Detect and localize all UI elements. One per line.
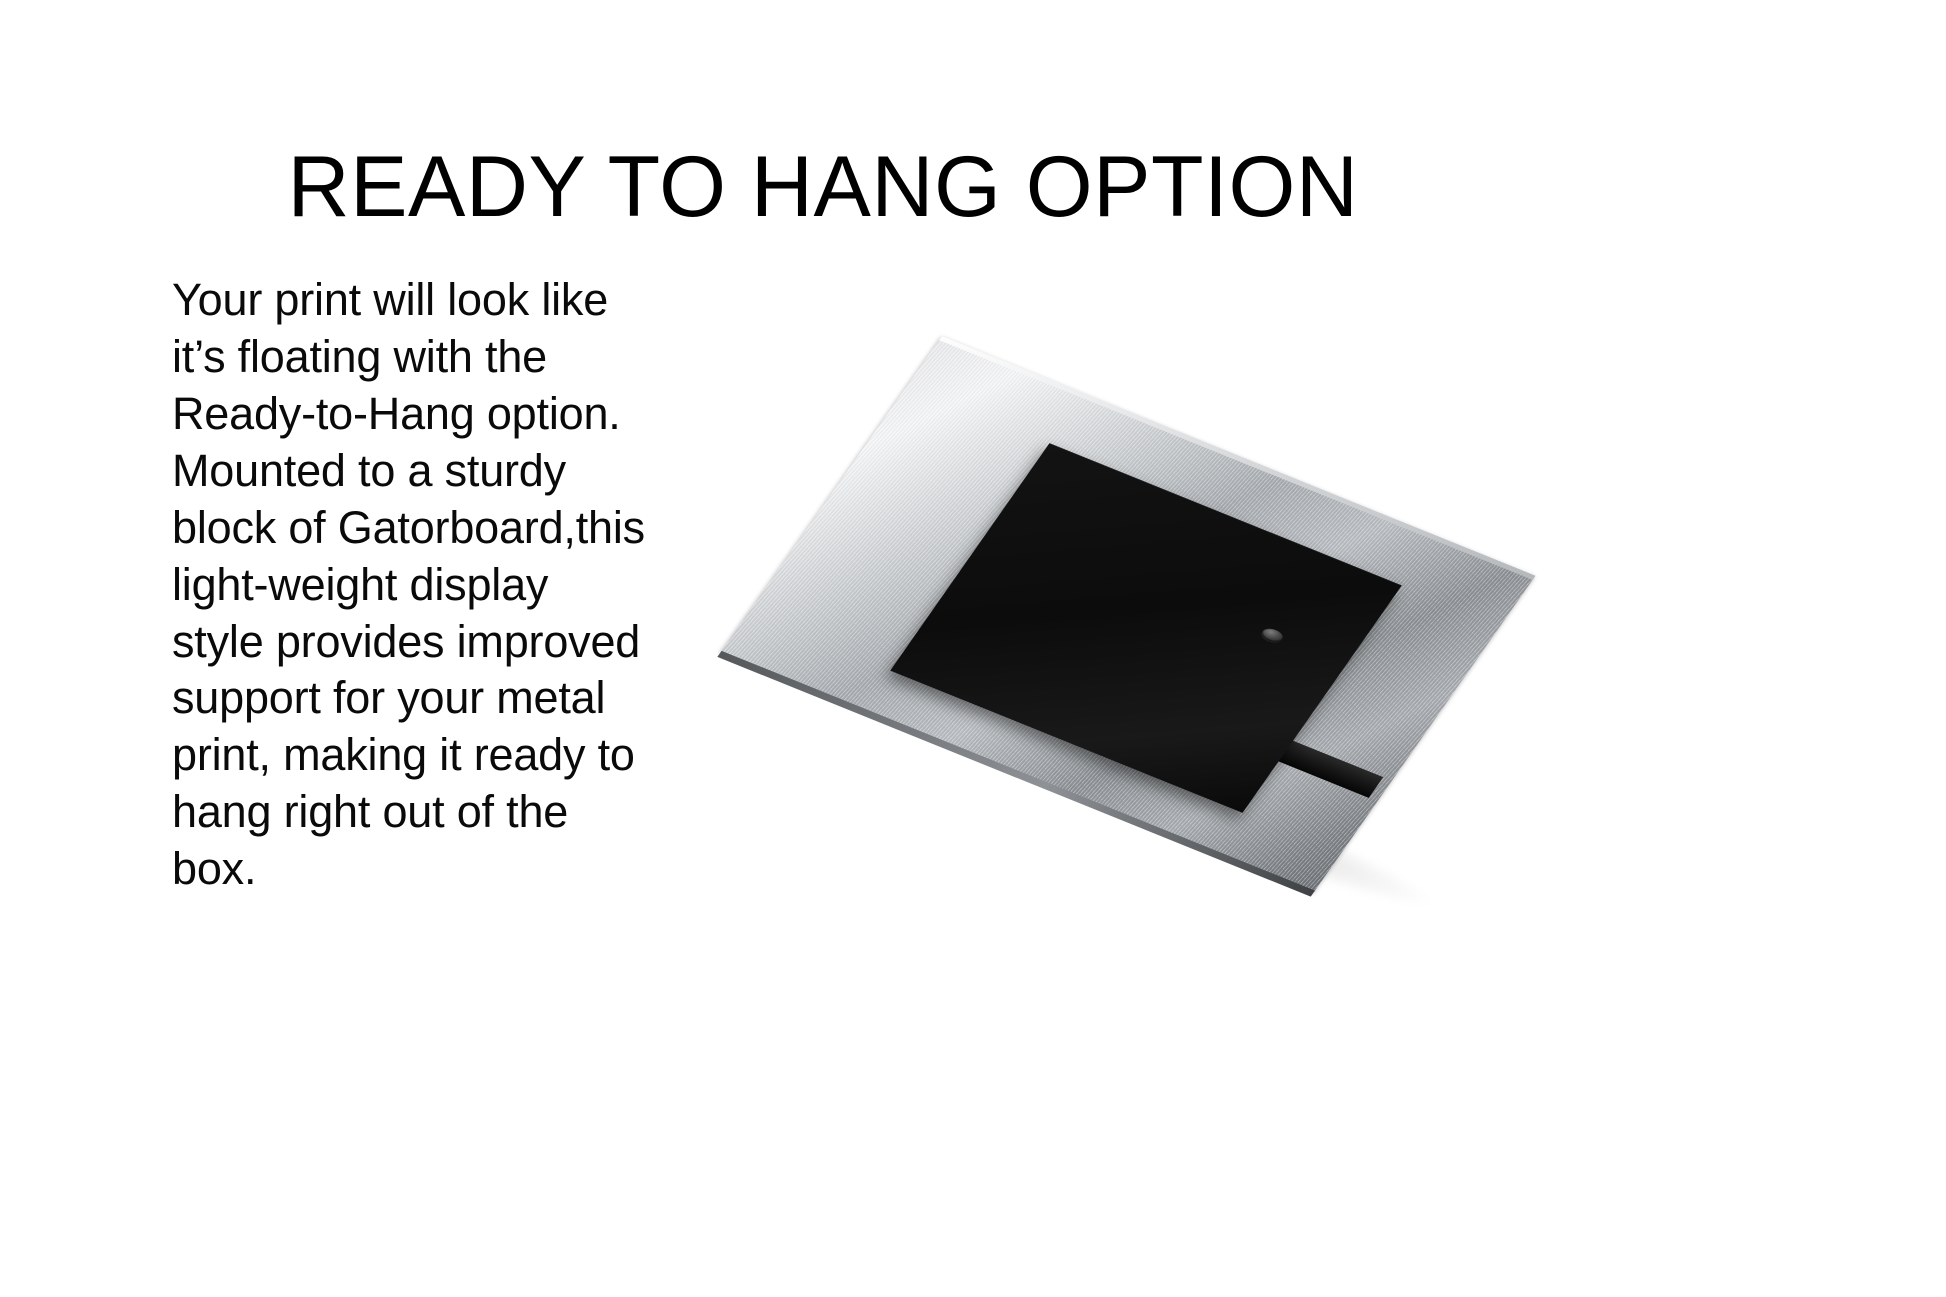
description-line: box. [172,841,642,898]
description-line: print, making it ready to [172,727,642,784]
slide-canvas: READY TO HANG OPTION Your print will loo… [0,0,1946,1297]
description-line: Your print will look like [172,272,642,329]
product-photo [700,361,1600,861]
description-line: style provides improved [172,614,642,671]
description-line: support for your metal [172,670,642,727]
description-line: block of Gatorboard,this [172,500,642,557]
page-title: READY TO HANG OPTION [0,142,1796,232]
description-text-block: Your print will look like it’s floating … [172,272,642,898]
hanging-hole-icon [1259,626,1286,644]
description-line: it’s floating with the [172,329,642,386]
description-line: Mounted to a sturdy [172,443,642,500]
product-scene [700,361,1600,861]
description-line: hang right out of the [172,784,642,841]
description-line: light-weight display [172,557,642,614]
description-line: Ready-to-Hang option. [172,386,642,443]
